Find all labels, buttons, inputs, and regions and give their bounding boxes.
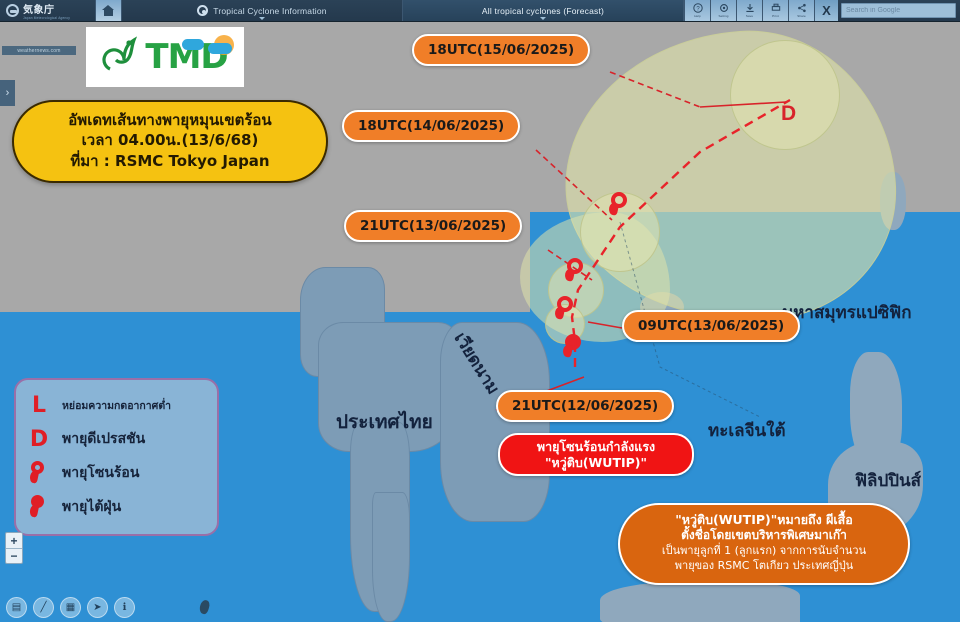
tropical-storm-tail bbox=[564, 268, 575, 282]
share-icon bbox=[797, 3, 807, 13]
leader-18utc-14 bbox=[536, 150, 612, 220]
legend-label: หย่อมความกดอากาศต่ำ bbox=[62, 397, 171, 414]
print-button[interactable]: Print bbox=[762, 0, 788, 21]
download-icon bbox=[745, 3, 755, 13]
top-navigation-bar: 気象庁 Japan Meteorological Agency Tropical… bbox=[0, 0, 960, 22]
storm-symbol-18utc-14[interactable] bbox=[606, 190, 632, 216]
banner-line-2: เวลา 04.00น.(13/6/68) bbox=[24, 130, 316, 150]
help-button-label: Help bbox=[694, 14, 701, 18]
pill-09utc-13[interactable]: 09UTC(13/06/2025) bbox=[622, 310, 800, 342]
toolbar-buttons: ? Help Setting Save Print Share bbox=[684, 0, 814, 21]
download-button[interactable]: Save bbox=[736, 0, 762, 21]
tmd-leaf-icon bbox=[102, 35, 142, 79]
legend-item-typhoon: พายุไต้ฝุ่น bbox=[24, 490, 209, 524]
tab-all-tropical-cyclones-forecast[interactable]: All tropical cyclones (Forecast) bbox=[403, 0, 684, 21]
jma-logo-icon bbox=[6, 4, 19, 17]
tropical-storm-icon bbox=[28, 461, 50, 485]
search-box[interactable] bbox=[841, 3, 956, 18]
cloud-icon bbox=[182, 39, 204, 50]
storm-symbol-depression-d[interactable]: D bbox=[781, 102, 796, 126]
brand-name-en: Japan Meteorological Agency bbox=[23, 17, 70, 20]
leader-arrow-d bbox=[700, 102, 786, 107]
banner-line-1: อัพเดทเส้นทางพายุหมุนเขตร้อน bbox=[24, 110, 316, 130]
tropical-storm-tail bbox=[554, 306, 565, 320]
label-thailand: ประเทศไทย bbox=[336, 407, 433, 437]
cloud-icon bbox=[208, 43, 232, 54]
home-button[interactable] bbox=[96, 0, 122, 21]
chevron-down-icon bbox=[259, 17, 265, 20]
settings-button-label: Setting bbox=[718, 14, 728, 18]
legend-label: พายุโซนร้อน bbox=[62, 462, 139, 484]
printer-icon bbox=[771, 3, 781, 13]
storm-name-badge[interactable]: พายุโซนร้อนกำลังแรง "หวู่ติบ(WUTIP)" bbox=[498, 433, 694, 476]
jma-tropical-cyclone-map-page: 気象庁 Japan Meteorological Agency Tropical… bbox=[0, 0, 960, 622]
tmd-logo: TMD bbox=[86, 27, 244, 87]
tab-label: Tropical Cyclone Information bbox=[213, 6, 326, 16]
depression-icon: D bbox=[24, 427, 54, 452]
tropical-storm-tail bbox=[608, 202, 619, 216]
map-legend: L หย่อมความกดอากาศต่ำ D พายุดีเปรสชัน พา… bbox=[14, 378, 219, 536]
tab-tropical-cyclone-information[interactable]: Tropical Cyclone Information bbox=[122, 0, 403, 21]
home-icon bbox=[102, 5, 115, 16]
label-south-china-sea: ทะเลจีนใต้ bbox=[708, 417, 786, 444]
print-button-label: Print bbox=[772, 14, 779, 18]
legend-label: พายุดีเปรสชัน bbox=[62, 428, 145, 450]
legend-item-tropical-storm: พายุโซนร้อน bbox=[24, 456, 209, 490]
zoom-out-button[interactable]: − bbox=[6, 548, 22, 563]
pill-18utc-15[interactable]: 18UTC(15/06/2025) bbox=[412, 34, 590, 66]
settings-button[interactable]: Setting bbox=[710, 0, 736, 21]
side-panel-toggle[interactable]: › bbox=[0, 80, 15, 106]
typhoon-icon bbox=[28, 495, 50, 519]
question-mark-icon: ? bbox=[693, 3, 703, 13]
storm-badge-line-1: พายุโซนร้อนกำลังแรง bbox=[512, 439, 680, 455]
info-button[interactable]: ℹ bbox=[114, 597, 135, 618]
brand-name-jp: 気象庁 bbox=[23, 5, 55, 16]
storm-badge-line-2: "หวู่ติบ(WUTIP)" bbox=[512, 455, 680, 471]
note-line-4: พายุของ RSMC โตเกียว ประเทศญี่ปุ่น bbox=[630, 559, 898, 574]
storm-symbol-21utc-13[interactable] bbox=[562, 256, 588, 282]
gear-icon bbox=[719, 3, 729, 13]
measure-button[interactable]: ╱ bbox=[33, 597, 54, 618]
legend-button[interactable]: ▦ bbox=[60, 597, 81, 618]
chevron-down-icon bbox=[540, 17, 546, 20]
note-line-1: "หวู่ติบ(WUTIP)"หมายถึง ผีเสื้อ bbox=[630, 512, 898, 528]
share-button[interactable]: Share bbox=[788, 0, 814, 21]
note-line-2: ตั้งชื่อโดยเขตบริหารพิเศษมาเก๊า bbox=[630, 528, 898, 544]
legend-item-low-pressure: L หย่อมความกดอากาศต่ำ bbox=[24, 388, 209, 422]
leader-09utc-13 bbox=[588, 322, 622, 328]
typhoon-tail bbox=[562, 344, 573, 358]
layers-button[interactable]: ▤ bbox=[6, 597, 27, 618]
pill-21utc-12[interactable]: 21UTC(12/06/2025) bbox=[496, 390, 674, 422]
storm-name-meaning-note: "หวู่ติบ(WUTIP)"หมายถึง ผีเสื้อ ตั้งชื่อ… bbox=[618, 503, 910, 585]
close-button[interactable]: X bbox=[814, 0, 838, 21]
location-button[interactable]: ➤ bbox=[87, 597, 108, 618]
cyclone-icon bbox=[197, 5, 208, 16]
label-philippines: ฟิลิปปินส์ bbox=[855, 467, 921, 494]
update-banner: อัพเดทเส้นทางพายุหมุนเขตร้อน เวลา 04.00น… bbox=[12, 100, 328, 183]
storm-symbol-09utc-13[interactable] bbox=[552, 294, 578, 320]
search-input[interactable] bbox=[846, 7, 951, 14]
leader-18utc-15 bbox=[610, 72, 700, 107]
legend-item-depression: D พายุดีเปรสชัน bbox=[24, 422, 209, 456]
help-button[interactable]: ? Help bbox=[684, 0, 710, 21]
map-bottom-toolbar: ▤ ╱ ▦ ➤ ℹ bbox=[0, 592, 960, 622]
tab-label: All tropical cyclones (Forecast) bbox=[482, 6, 604, 16]
banner-line-3: ที่มา : RSMC Tokyo Japan bbox=[24, 151, 316, 171]
zoom-in-button[interactable]: + bbox=[6, 533, 22, 548]
storm-symbol-21utc-12[interactable] bbox=[560, 332, 586, 358]
zoom-control[interactable]: + − bbox=[5, 532, 23, 564]
download-button-label: Save bbox=[746, 14, 753, 18]
label-pacific-ocean: มหาสมุทรแปซิฟิก bbox=[782, 299, 912, 326]
legend-label: พายุไต้ฝุ่น bbox=[62, 496, 121, 518]
share-button-label: Share bbox=[797, 14, 806, 18]
site-watermark: weathernews.com bbox=[2, 46, 76, 55]
jma-brand[interactable]: 気象庁 Japan Meteorological Agency bbox=[0, 0, 96, 21]
pill-21utc-13[interactable]: 21UTC(13/06/2025) bbox=[344, 210, 522, 242]
note-line-3: เป็นพายุลูกที่ 1 (ลูกแรก) จากการนับจำนวน bbox=[630, 544, 898, 559]
pill-18utc-14[interactable]: 18UTC(14/06/2025) bbox=[342, 110, 520, 142]
low-pressure-icon: L bbox=[24, 393, 54, 418]
